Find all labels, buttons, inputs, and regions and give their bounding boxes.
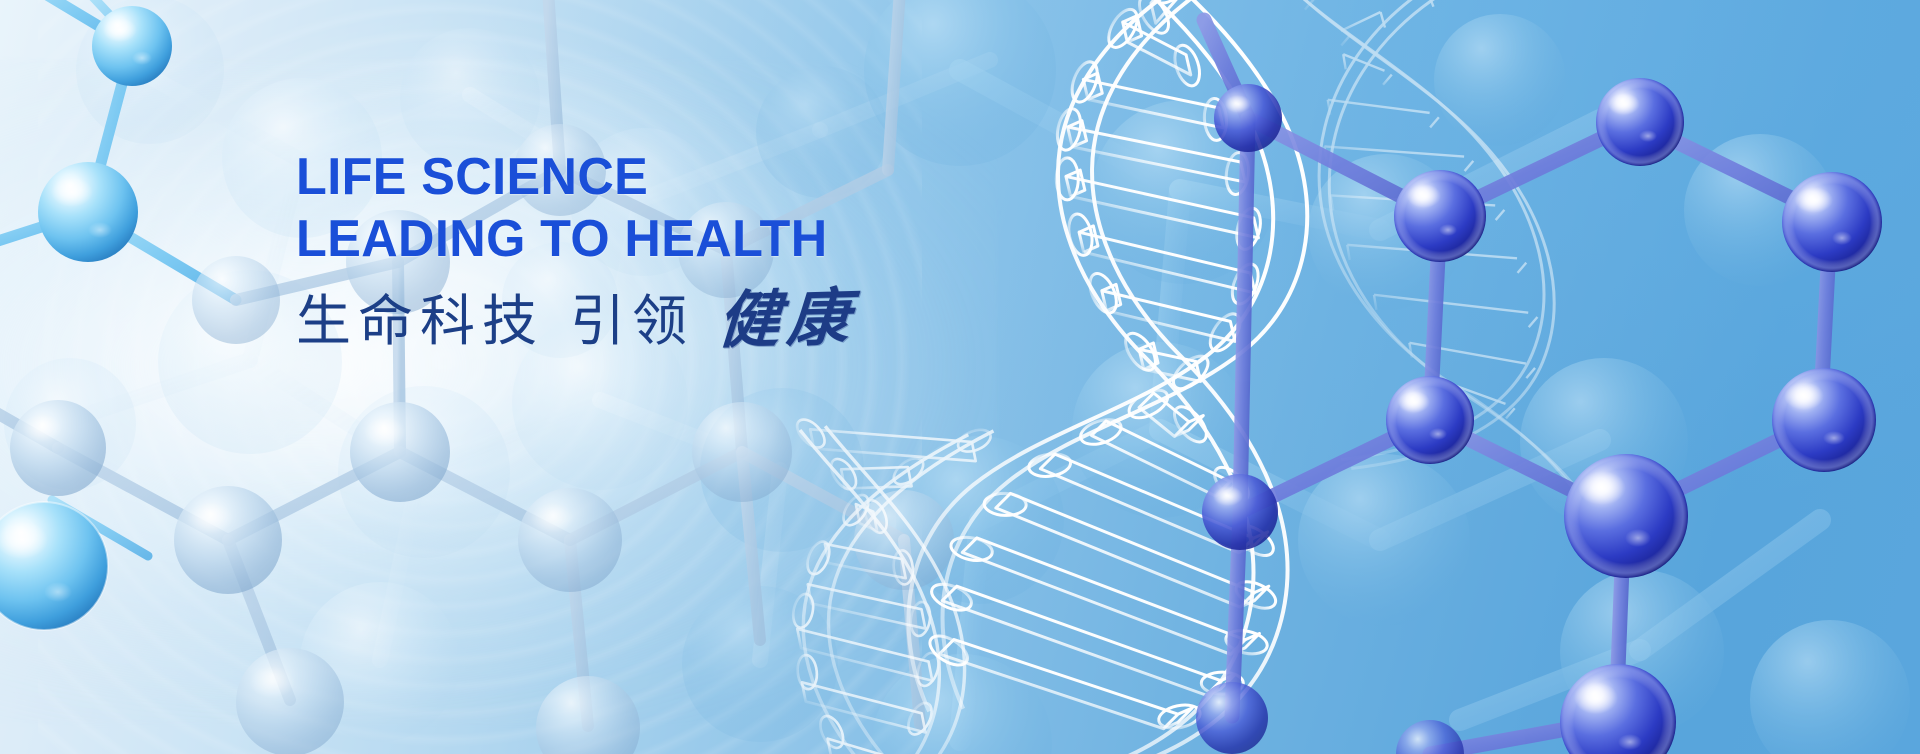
life-science-banner: LIFE SCIENCE LEADING TO HEALTH 生命科技 引领 健… xyxy=(0,0,1920,754)
subtitle-brush-health: 健康 xyxy=(716,286,858,352)
subtitle-line: 生命科技 引领 健康 xyxy=(296,290,854,352)
banner-text-block: LIFE SCIENCE LEADING TO HEALTH 生命科技 引领 健… xyxy=(296,148,854,352)
subtitle-second: 引领 xyxy=(570,290,694,352)
headline-line-1: LIFE SCIENCE xyxy=(296,148,837,206)
molecule-cluster-deep-blue xyxy=(0,0,1920,754)
subtitle-main: 生命科技 xyxy=(296,290,544,352)
headline-line-2: LEADING TO HEALTH xyxy=(296,210,837,268)
